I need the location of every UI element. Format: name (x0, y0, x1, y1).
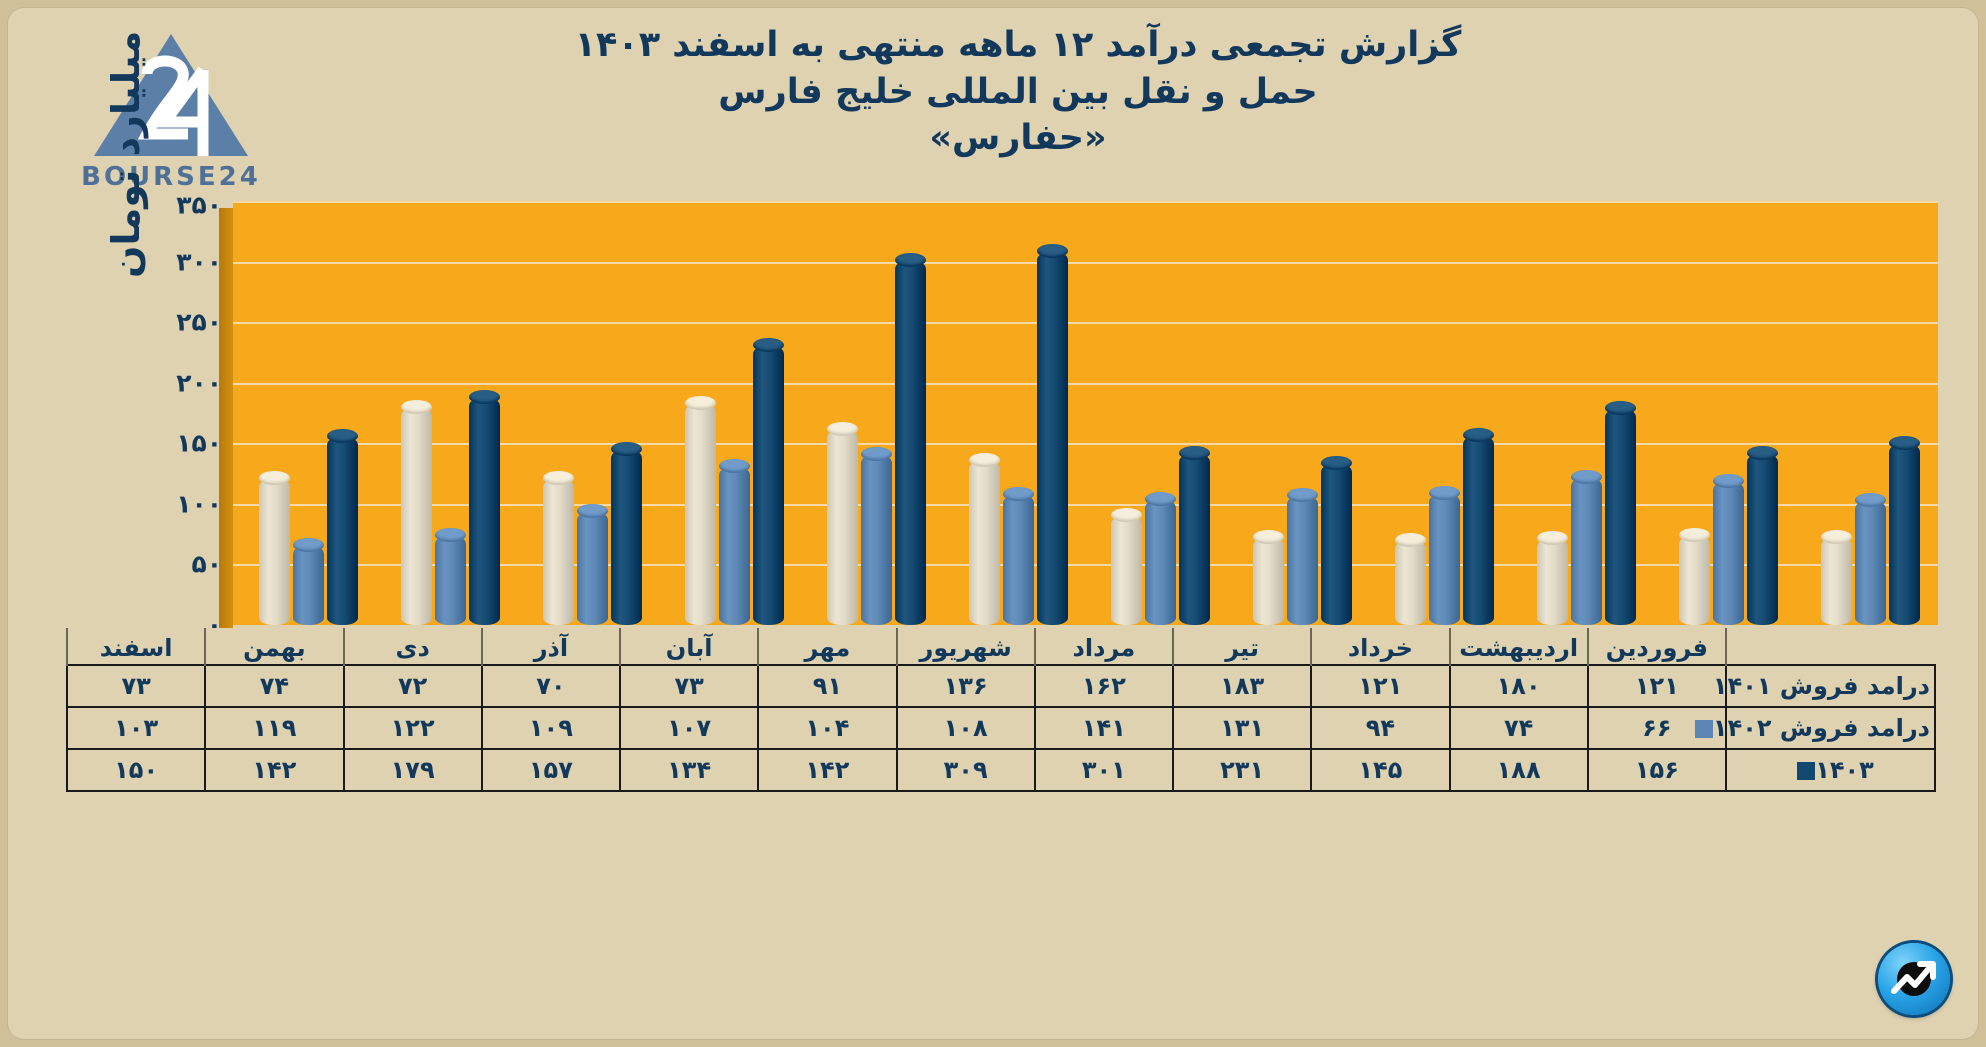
bar-cap (969, 453, 1000, 467)
table-row-label: ۱۴۰۳ (1726, 749, 1935, 791)
bar-cap (895, 253, 926, 267)
bar-cap (259, 471, 290, 485)
page-title: گزارش تجمعی درآمد ۱۲ ماهه منتهی به اسفند… (308, 22, 1728, 162)
title-line-2: حمل و نقل بین المللی خلیج فارس (308, 69, 1728, 116)
table-month-header: اسفند (67, 628, 205, 665)
table-cell: ۱۸۸ (1450, 749, 1588, 791)
table-month-header: خرداد (1311, 628, 1449, 665)
bar-group (801, 201, 943, 625)
bar (753, 345, 784, 625)
bar (895, 260, 926, 625)
bar (611, 449, 642, 625)
bar (1537, 538, 1568, 625)
bar (1321, 463, 1352, 625)
table-cell: ۹۱ (758, 665, 896, 707)
bar-cap (1395, 533, 1426, 547)
bar (1713, 481, 1744, 625)
bar-cap (1003, 487, 1034, 501)
bar-cap (577, 504, 608, 518)
bar-cap (827, 422, 858, 436)
table-month-header: اردیبهشت (1450, 628, 1588, 665)
y-axis-tick: ۲۵۰ (122, 308, 222, 337)
bar (327, 436, 358, 625)
bar (1179, 453, 1210, 625)
table-cell: ۳۰۹ (897, 749, 1035, 791)
bar (1429, 493, 1460, 625)
table-row: درامد فروش ۱۴۰۲۶۶۷۴۹۴۱۳۱۱۴۱۱۰۸۱۰۴۱۰۷۱۰۹۱… (67, 707, 1935, 749)
table-cell: ۷۳ (620, 665, 758, 707)
bar-cap (327, 429, 358, 443)
table-cell: ۱۲۱ (1311, 665, 1449, 707)
bar (259, 478, 290, 625)
table-row: ۱۴۰۳۱۵۶۱۸۸۱۴۵۲۳۱۳۰۱۳۰۹۱۴۲۱۳۴۱۵۷۱۷۹۱۴۲۱۵۰ (67, 749, 1935, 791)
table-cell: ۱۲۱ (1588, 665, 1726, 707)
report-card: BOURSE24 گزارش تجمعی درآمد ۱۲ ماهه منتهی… (8, 8, 1978, 1039)
bar (577, 511, 608, 625)
table-cell: ۱۳۶ (897, 665, 1035, 707)
bar-cap (1537, 531, 1568, 545)
bar (1463, 435, 1494, 625)
bar (969, 460, 1000, 625)
bar-cap (435, 528, 466, 542)
bar (1003, 494, 1034, 625)
table-cell: ۱۰۴ (758, 707, 896, 749)
bar-cap (1855, 493, 1886, 507)
table-cell: ۱۱۹ (205, 707, 343, 749)
bar-group (233, 201, 375, 625)
table-month-header: شهریور (897, 628, 1035, 665)
bar-cap (1145, 492, 1176, 506)
bar (1395, 540, 1426, 625)
bar-group (1370, 201, 1512, 625)
table-corner-cell (1726, 628, 1935, 665)
data-table: فروردیناردیبهشتخردادتیرمردادشهریورمهرآبا… (66, 628, 1936, 792)
bar-series-container (233, 201, 1938, 625)
plot-left-wall (219, 208, 233, 632)
table-cell: ۱۲۲ (344, 707, 482, 749)
table-cell: ۷۰ (482, 665, 620, 707)
bar-cap (1287, 488, 1318, 502)
table-cell: ۱۶۲ (1035, 665, 1173, 707)
bar (1679, 535, 1710, 625)
bar (401, 407, 432, 625)
bar-cap (1821, 530, 1852, 544)
bar-cap (543, 471, 574, 485)
bar-cap (1321, 456, 1352, 470)
bar-group (375, 201, 517, 625)
table-cell: ۱۵۷ (482, 749, 620, 791)
table-cell: ۱۰۷ (620, 707, 758, 749)
bar-cap (685, 396, 716, 410)
bar (1821, 537, 1852, 625)
bar (1037, 251, 1068, 625)
bar-cap (1111, 508, 1142, 522)
table-cell: ۱۷۹ (344, 749, 482, 791)
bar-cap (401, 400, 432, 414)
bar (827, 429, 858, 625)
table-cell: ۱۵۰ (67, 749, 205, 791)
table-month-header: دی (344, 628, 482, 665)
bar-cap (1253, 530, 1284, 544)
bar (861, 454, 892, 625)
table-month-header-row: فروردیناردیبهشتخردادتیرمردادشهریورمهرآبا… (67, 628, 1935, 665)
bar-cap (1679, 528, 1710, 542)
table-cell: ۱۴۲ (758, 749, 896, 791)
table-row-label: درامد فروش ۱۴۰۲ (1726, 707, 1935, 749)
bar-cap (293, 538, 324, 552)
table-cell: ۷۳ (67, 665, 205, 707)
bar (685, 403, 716, 625)
table-cell: ۱۰۳ (67, 707, 205, 749)
table-row-label: درامد فروش ۱۴۰۱ (1726, 665, 1935, 707)
bar-cap (1747, 446, 1778, 460)
bar (435, 535, 466, 625)
table-month-header: بهمن (205, 628, 343, 665)
bar (1145, 499, 1176, 625)
bar-cap (1713, 474, 1744, 488)
bar (293, 545, 324, 625)
table-cell: ۱۸۰ (1450, 665, 1588, 707)
table-month-header: مهر (758, 628, 896, 665)
bar (469, 397, 500, 625)
screenshot-canvas: BOURSE24 گزارش تجمعی درآمد ۱۲ ماهه منتهی… (0, 0, 1986, 1047)
y-axis-tick: ۱۵۰ (122, 429, 222, 458)
title-line-1: گزارش تجمعی درآمد ۱۲ ماهه منتهی به اسفند… (308, 22, 1728, 69)
table-cell: ۱۴۱ (1035, 707, 1173, 749)
table-cell: ۱۰۸ (897, 707, 1035, 749)
bar (543, 478, 574, 625)
bar-cap (719, 459, 750, 473)
table-cell: ۲۳۱ (1173, 749, 1311, 791)
bar-cap (753, 338, 784, 352)
table-cell: ۱۴۵ (1311, 749, 1449, 791)
bar-group (517, 201, 659, 625)
bar-cap (1889, 436, 1920, 450)
bar (1287, 495, 1318, 625)
table-cell: ۱۵۶ (1588, 749, 1726, 791)
bar (1747, 453, 1778, 625)
brand-logo: BOURSE24 (66, 30, 276, 195)
title-line-3: «حفارس» (308, 115, 1728, 162)
bar-group (1796, 201, 1938, 625)
table-cell: ۱۰۹ (482, 707, 620, 749)
table-month-header: آبان (620, 628, 758, 665)
bar-cap (861, 447, 892, 461)
table-month-header: مرداد (1035, 628, 1173, 665)
bar-chart (233, 201, 1938, 625)
bar-cap (1037, 244, 1068, 258)
bar-cap (1179, 446, 1210, 460)
bar (1889, 443, 1920, 625)
table-cell: ۱۸۳ (1173, 665, 1311, 707)
bar-group (1086, 201, 1228, 625)
bar-cap (1571, 470, 1602, 484)
legend-swatch (1695, 720, 1713, 738)
table-cell: ۱۴۲ (205, 749, 343, 791)
bar-cap (469, 390, 500, 404)
bar-group (659, 201, 801, 625)
trending-up-circle-icon (1878, 943, 1950, 1015)
table-month-header: فروردین (1588, 628, 1726, 665)
bar-cap (1429, 486, 1460, 500)
bar (719, 466, 750, 625)
table-cell: ۷۲ (344, 665, 482, 707)
bar-cap (611, 442, 642, 456)
bar-cap (1463, 428, 1494, 442)
y-axis-tick: ۱۰۰ (122, 489, 222, 518)
bar (1571, 477, 1602, 625)
brand-logo-text: BOURSE24 (66, 162, 276, 192)
bar-cap (1605, 401, 1636, 415)
bar (1855, 500, 1886, 625)
y-axis-tick: ۵۰ (122, 550, 222, 579)
y-axis-tick: ۲۰۰ (122, 368, 222, 397)
legend-swatch (1797, 762, 1815, 780)
table-cell: ۹۴ (1311, 707, 1449, 749)
y-axis-label: میلیارد تومان (104, 31, 148, 278)
table-month-header: آذر (482, 628, 620, 665)
bar (1111, 515, 1142, 625)
bar-group (1512, 201, 1654, 625)
table-cell: ۷۴ (205, 665, 343, 707)
bar-group (1228, 201, 1370, 625)
table-cell: ۱۳۴ (620, 749, 758, 791)
table-row: درامد فروش ۱۴۰۱۱۲۱۱۸۰۱۲۱۱۸۳۱۶۲۱۳۶۹۱۷۳۷۰۷… (67, 665, 1935, 707)
table-cell: ۷۴ (1450, 707, 1588, 749)
table-month-header: تیر (1173, 628, 1311, 665)
table-cell: ۳۰۱ (1035, 749, 1173, 791)
bar (1253, 537, 1284, 625)
bar (1605, 408, 1636, 625)
bar-group (943, 201, 1085, 625)
bar-group (1654, 201, 1796, 625)
table-cell: ۱۳۱ (1173, 707, 1311, 749)
